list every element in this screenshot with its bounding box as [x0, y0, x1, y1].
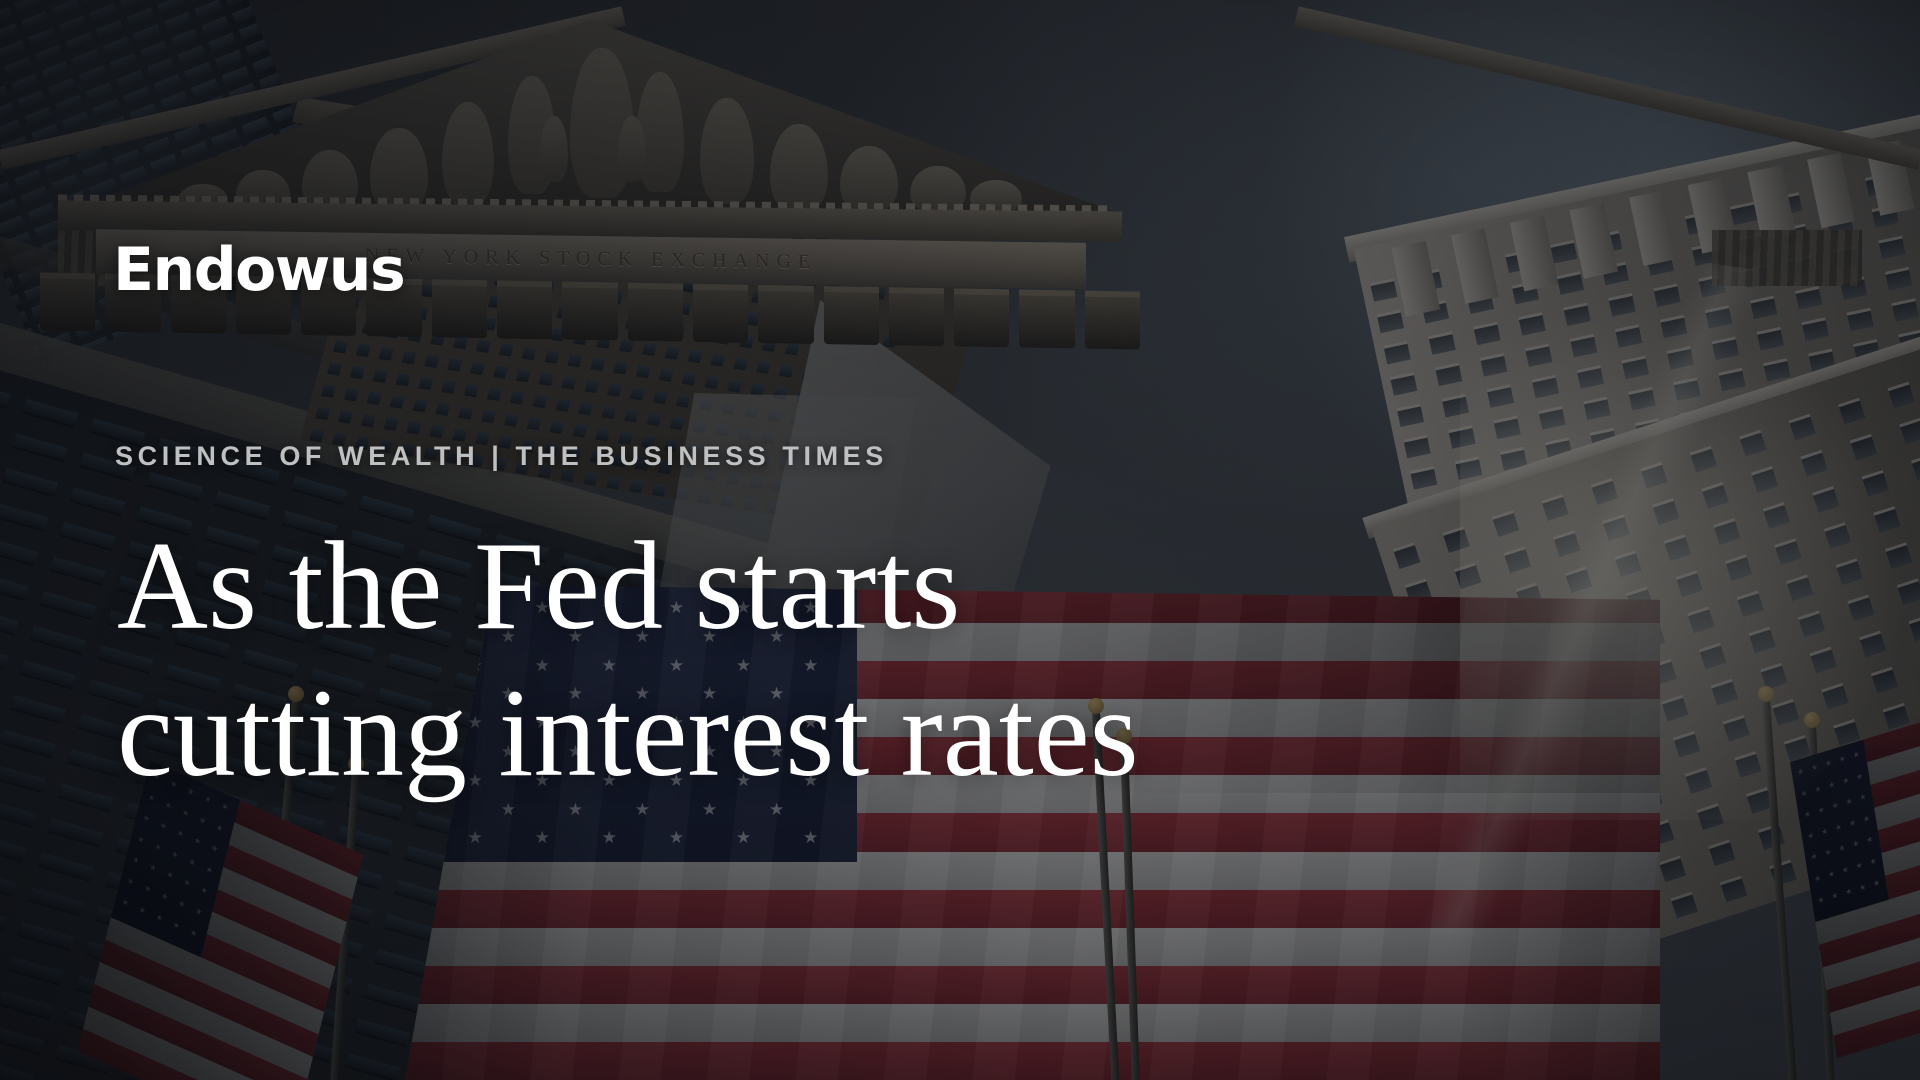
endowus-logo[interactable]: Endowus [113, 240, 404, 300]
hero-content: Endowus SCIENCE OF WEALTH | THE BUSINESS… [0, 0, 1920, 1080]
hero-headline: As the Fed starts cutting interest rates [117, 513, 1517, 808]
hero-kicker: SCIENCE OF WEALTH | THE BUSINESS TIMES [115, 441, 888, 472]
hero-banner: NEW YORK STOCK EXCHANGE ★★★★★★★★★★★★★★★★… [0, 0, 1920, 1080]
headline-line-1: As the Fed starts [117, 513, 1517, 660]
headline-line-2: cutting interest rates [117, 660, 1517, 807]
